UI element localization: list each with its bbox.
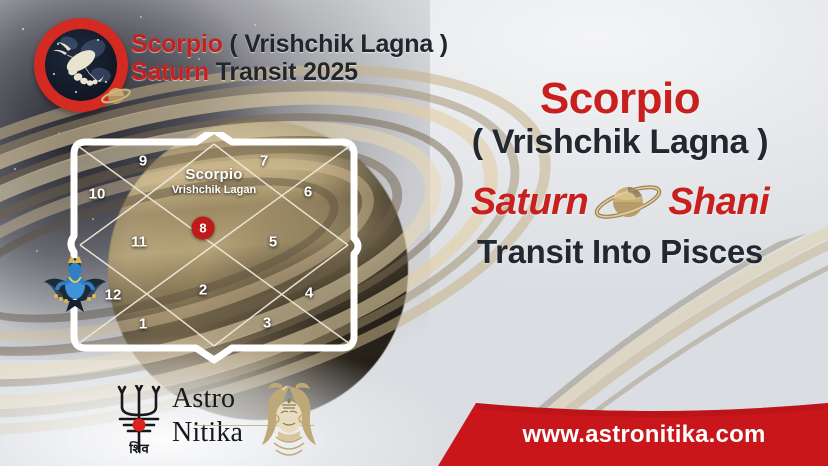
shani-deity-icon xyxy=(42,252,108,314)
headline-transit-into-pisces: Transit Into Pisces xyxy=(412,233,828,271)
top-headline-line-1: Scorpio ( Vrishchik Lagna ) xyxy=(131,30,448,58)
astronitika-logo[interactable]: शिव Astro Nitika xyxy=(108,383,320,459)
top-headline-line-2: Saturn Transit 2025 xyxy=(131,58,448,86)
chart-house-11: 11 xyxy=(131,234,147,251)
scorpio-badge xyxy=(34,18,128,112)
chart-house-4: 4 xyxy=(305,285,313,302)
website-url[interactable]: www.astronitika.com xyxy=(424,421,828,449)
chart-house-3: 3 xyxy=(263,315,271,332)
website-ribbon[interactable]: www.astronitika.com xyxy=(424,403,828,466)
headline-vrishchik-lagna: ( Vrishchik Lagna ) xyxy=(412,123,828,161)
headline-scorpio: Scorpio xyxy=(412,76,828,122)
chart-house-5: 5 xyxy=(269,234,277,251)
headline-saturn: Saturn xyxy=(471,183,588,221)
chart-house-2: 2 xyxy=(199,282,207,299)
chart-house-1: 1 xyxy=(139,316,147,333)
trishul-devanagari-text: शिव xyxy=(128,441,149,456)
chart-house-7: 7 xyxy=(260,153,268,170)
lagna-house-badge: 8 xyxy=(192,217,215,240)
shiva-face-icon xyxy=(252,383,326,459)
chart-house-6: 6 xyxy=(304,184,312,201)
chart-diagram-svg xyxy=(64,132,364,364)
saturn-planet-icon xyxy=(592,177,664,227)
chart-house-9: 9 xyxy=(139,153,147,170)
saturn-icon xyxy=(100,80,132,112)
main-headline-block: Scorpio ( Vrishchik Lagna ) Saturn Shani… xyxy=(412,76,828,271)
headline-saturn-shani-row: Saturn Shani xyxy=(412,177,828,227)
top-headline-scorpio: Scorpio xyxy=(131,30,223,58)
top-headline-lagna: ( Vrishchik Lagna ) xyxy=(223,30,448,58)
top-headline-saturn: Saturn xyxy=(131,58,209,86)
top-headline: Scorpio ( Vrishchik Lagna ) Saturn Trans… xyxy=(131,30,448,86)
chart-house-10: 10 xyxy=(89,186,106,203)
banner-canvas: Scorpio ( Vrishchik Lagna ) Saturn Trans… xyxy=(0,0,828,466)
top-headline-transit: Transit 2025 xyxy=(209,58,358,86)
trishul-shiva-icon: शिव xyxy=(108,385,170,459)
vedic-birth-chart: Scorpio Vrishchik Lagan 8 97106115124213 xyxy=(64,132,364,364)
headline-shani: Shani xyxy=(668,183,769,221)
